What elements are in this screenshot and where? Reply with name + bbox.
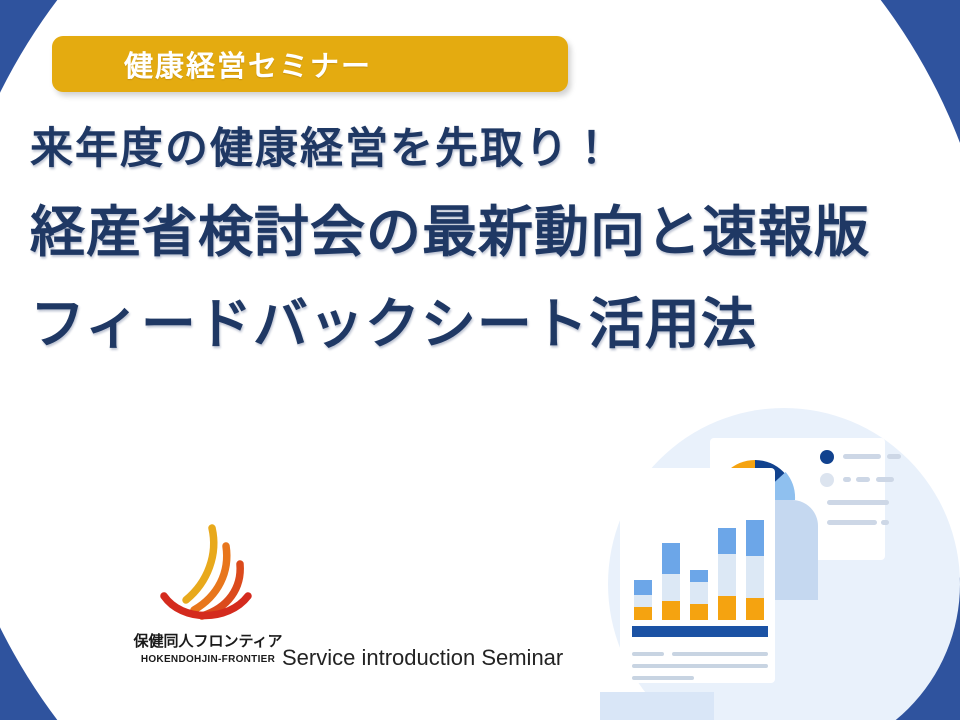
headline-line-1: 来年度の健康経営を先取り！ [30,112,870,186]
report-dashboard-illustration [600,400,960,720]
page-title: 来年度の健康経営を先取り！ 経産省検討会の最新動向と速報版 フィードバックシート… [30,112,870,370]
company-logo: 保健同人フロンティア HOKENDOHJIN-FRONTIER [128,520,288,665]
seminar-category-badge: 健康経営セミナー [52,36,568,92]
pill-shape-bottom [600,692,714,720]
arc-flame-logo-icon [156,520,260,628]
chart-baseline [632,626,768,637]
seminar-slide: 健康経営セミナー 来年度の健康経営を先取り！ 経産省検討会の最新動向と速報版 フ… [0,0,960,720]
seminar-tagline: Service introduction Seminar [282,645,563,671]
logo-name-en: HOKENDOHJIN-FRONTIER [128,654,288,665]
headline-line-2: 経産省検討会の最新動向と速報版 [30,186,870,278]
logo-name-ja: 保健同人フロンティア [128,630,288,651]
headline-line-3: フィードバックシート活用法 [30,278,870,370]
badge-label: 健康経営セミナー [52,43,372,85]
